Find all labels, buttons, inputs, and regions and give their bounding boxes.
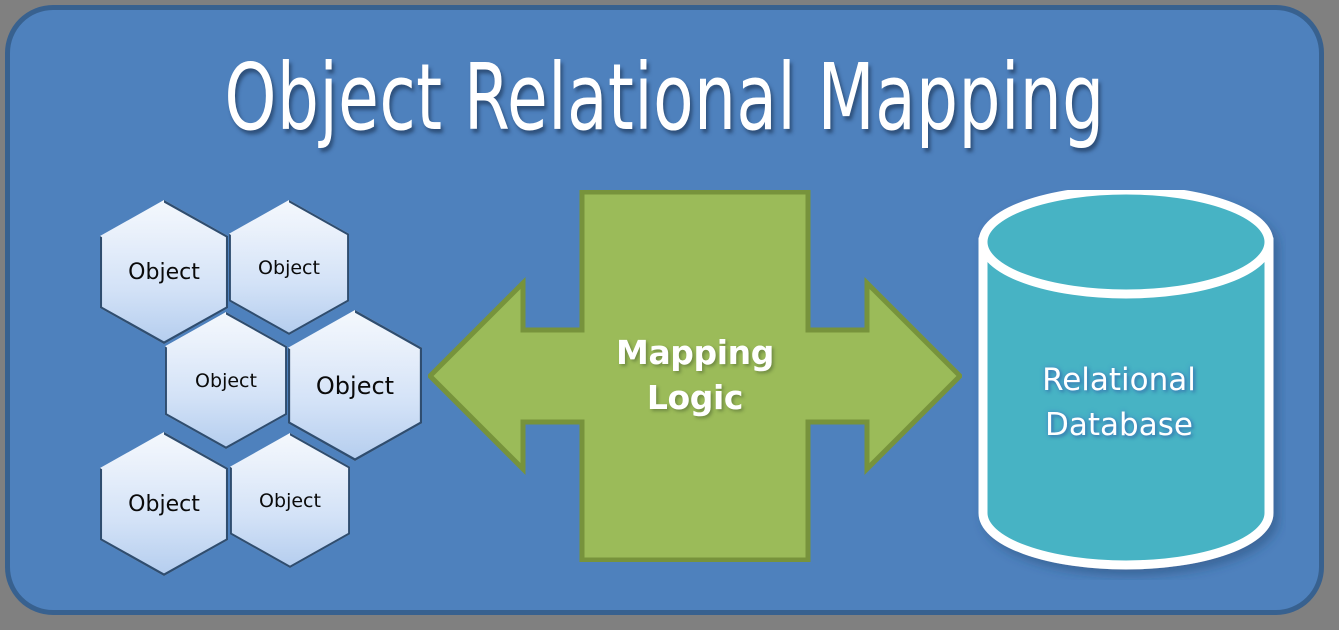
- relational-database-label-line1: Relational: [966, 358, 1272, 403]
- object-hexagon: Object: [165, 312, 287, 449]
- page-title: Object Relational Mapping: [133, 52, 1196, 144]
- mapping-logic-label-line2: Logic: [428, 375, 962, 420]
- mapping-logic-label: Mapping Logic: [428, 330, 962, 420]
- object-hexagon-label: Object: [165, 312, 287, 449]
- relational-database-label-line2: Database: [966, 403, 1272, 448]
- object-hexagon: Object: [100, 432, 228, 576]
- mapping-logic-label-line1: Mapping: [428, 330, 962, 375]
- object-hexagon: Object: [230, 433, 350, 568]
- object-hexagon-label: Object: [230, 433, 350, 568]
- object-hexagon-label: Object: [100, 432, 228, 576]
- diagram-canvas: Object Relational Mapping ObjectObjectOb…: [0, 0, 1339, 630]
- relational-database-label: Relational Database: [966, 358, 1272, 448]
